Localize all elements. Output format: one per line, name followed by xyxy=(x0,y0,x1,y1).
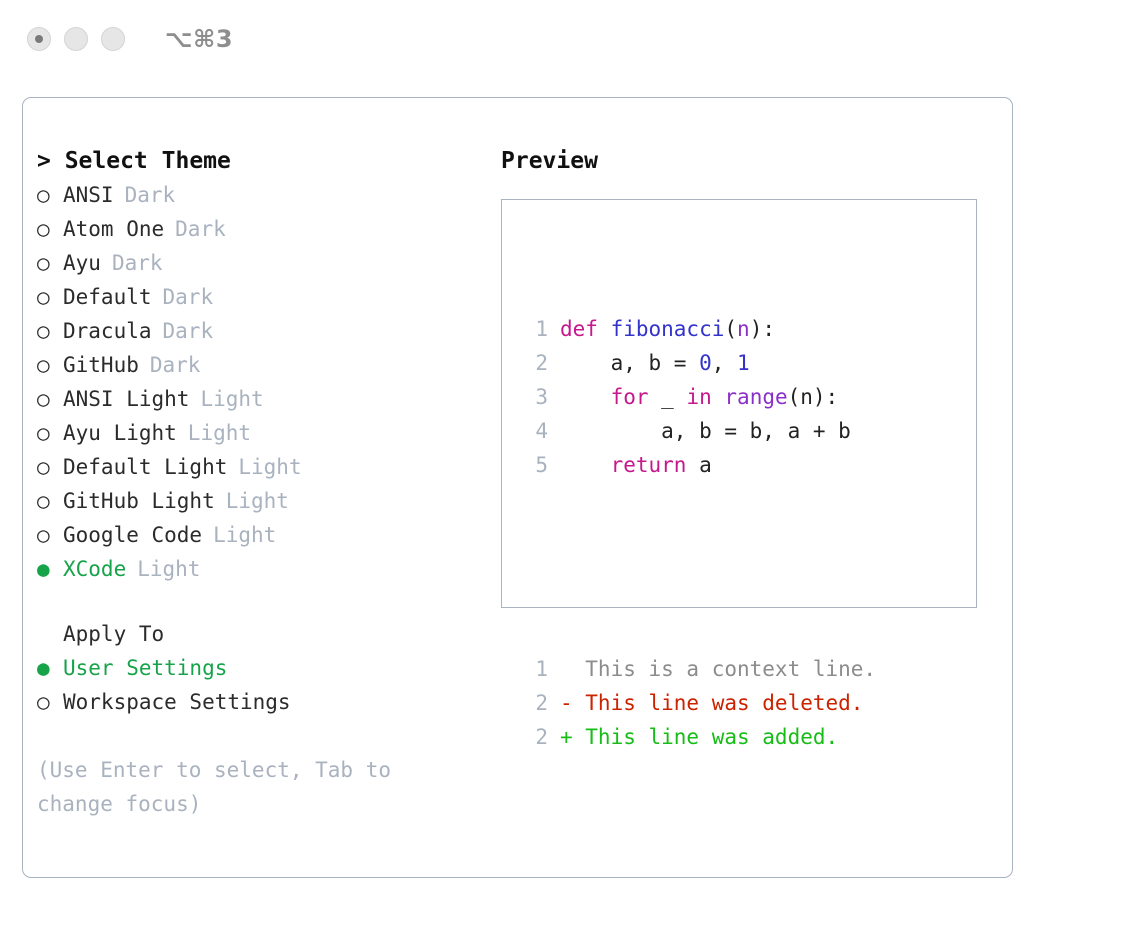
theme-list-item[interactable]: ○ANSIDark xyxy=(37,178,497,212)
code-line-number: 2 xyxy=(522,346,548,380)
theme-name: Default xyxy=(63,280,152,314)
code-token-kw: in xyxy=(686,385,711,409)
keyboard-hint-text: (Use Enter to select, Tab to change focu… xyxy=(37,753,437,821)
code-line-number: 4 xyxy=(522,414,548,448)
theme-variant-tag: Light xyxy=(226,484,289,518)
theme-variant-tag: Light xyxy=(213,518,276,552)
code-line-number: 3 xyxy=(522,380,548,414)
diff-line-del: 2- This line was deleted. xyxy=(522,686,876,720)
radio-unselected-icon: ○ xyxy=(37,280,63,314)
radio-unselected-icon: ○ xyxy=(37,314,63,348)
code-line-number: 1 xyxy=(522,312,548,346)
code-token-pl: a xyxy=(686,453,711,477)
code-line-content: def fibonacci(n): xyxy=(560,312,775,346)
code-token-kw: def xyxy=(560,317,611,341)
code-token-pl: ): xyxy=(750,317,775,341)
theme-name: Ayu Light xyxy=(63,416,177,450)
theme-variant-tag: Dark xyxy=(175,212,226,246)
theme-list-item[interactable]: ○Ayu LightLight xyxy=(37,416,497,450)
theme-variant-tag: Dark xyxy=(163,314,214,348)
apply-to-heading-label: Apply To xyxy=(63,617,164,651)
window-dot-active[interactable] xyxy=(27,27,51,51)
select-theme-heading: > Select Theme xyxy=(37,144,497,178)
theme-variant-tag: Light xyxy=(137,552,200,586)
apply-to-options[interactable]: ●User Settings○Workspace Settings xyxy=(37,651,497,719)
theme-variant-tag: Dark xyxy=(125,178,176,212)
theme-list-item[interactable]: ○Default LightLight xyxy=(37,450,497,484)
code-line-number: 5 xyxy=(522,448,548,482)
window-dot-third[interactable] xyxy=(101,27,125,51)
keyboard-shortcut-label: ⌥⌘3 xyxy=(165,25,233,53)
code-line-content: for _ in range(n): xyxy=(560,380,838,414)
code-token-pl xyxy=(560,385,611,409)
theme-list-item[interactable]: ○Atom OneDark xyxy=(37,212,497,246)
code-token-var: range xyxy=(724,385,787,409)
code-token-pl: (n): xyxy=(788,385,839,409)
preview-code: 1def fibonacci(n):2 a, b = 0, 13 for _ i… xyxy=(522,244,876,822)
theme-name: Google Code xyxy=(63,518,202,552)
code-token-num: 0 xyxy=(699,351,712,375)
radio-unselected-icon: ○ xyxy=(37,450,63,484)
radio-unselected-icon: ○ xyxy=(37,212,63,246)
radio-unselected-icon: ○ xyxy=(37,348,63,382)
radio-unselected-icon: ○ xyxy=(37,382,63,416)
theme-name: Atom One xyxy=(63,212,164,246)
code-token-kw: for xyxy=(611,385,649,409)
radio-unselected-icon: ○ xyxy=(37,484,63,518)
code-token-pl xyxy=(560,453,611,477)
theme-list-item[interactable]: ●XCodeLight xyxy=(37,552,497,586)
apply-to-option-label: User Settings xyxy=(63,651,227,685)
apply-to-heading: Apply To xyxy=(37,617,497,651)
code-token-pl xyxy=(712,385,725,409)
apply-to-heading-marker xyxy=(37,617,63,651)
theme-selector-panel: > Select Theme ○ANSIDark○Atom OneDark○Ay… xyxy=(22,97,1013,878)
radio-selected-icon: ● xyxy=(37,651,63,685)
code-line-content: a, b = b, a + b xyxy=(560,414,851,448)
theme-variant-tag: Dark xyxy=(163,280,214,314)
code-spacer xyxy=(522,550,876,584)
theme-list-item[interactable]: ○Google CodeLight xyxy=(37,518,497,552)
code-token-var: n xyxy=(737,317,750,341)
theme-name: Dracula xyxy=(63,314,152,348)
apply-to-section: Apply To ●User Settings○Workspace Settin… xyxy=(37,617,497,719)
diff-line-content: This is a context line. xyxy=(560,652,876,686)
diff-line-number: 1 xyxy=(522,652,548,686)
window-dot-active-inner xyxy=(35,35,43,43)
window-controls xyxy=(27,27,125,51)
theme-variant-tag: Light xyxy=(238,450,301,484)
theme-list-item[interactable]: ○GitHub LightLight xyxy=(37,484,497,518)
diff-line-number: 2 xyxy=(522,686,548,720)
diff-line-number: 2 xyxy=(522,720,548,754)
code-token-pl: , xyxy=(712,351,737,375)
preview-box: 1def fibonacci(n):2 a, b = 0, 13 for _ i… xyxy=(501,199,977,608)
code-line: 1def fibonacci(n): xyxy=(522,312,876,346)
radio-unselected-icon: ○ xyxy=(37,246,63,280)
diff-line-add: 2+ This line was added. xyxy=(522,720,876,754)
code-line: 4 a, b = b, a + b xyxy=(522,414,876,448)
code-line-content: a, b = 0, 1 xyxy=(560,346,750,380)
diff-line-content: - This line was deleted. xyxy=(560,686,863,720)
theme-variant-tag: Light xyxy=(188,416,251,450)
theme-name: GitHub xyxy=(63,348,139,382)
theme-list-item[interactable]: ○DraculaDark xyxy=(37,314,497,348)
diff-line-content: + This line was added. xyxy=(560,720,838,754)
code-token-pl: _ xyxy=(649,385,687,409)
apply-to-option[interactable]: ○Workspace Settings xyxy=(37,685,497,719)
code-line-content: return a xyxy=(560,448,712,482)
theme-list-item[interactable]: ○AyuDark xyxy=(37,246,497,280)
code-token-kw: return xyxy=(611,453,687,477)
diff-sample: 1 This is a context line.2- This line wa… xyxy=(522,652,876,754)
apply-to-option-label: Workspace Settings xyxy=(63,685,291,719)
radio-unselected-icon: ○ xyxy=(37,685,63,719)
theme-list-item[interactable]: ○GitHubDark xyxy=(37,348,497,382)
theme-name: Default Light xyxy=(63,450,227,484)
theme-list-item[interactable]: ○DefaultDark xyxy=(37,280,497,314)
code-line: 2 a, b = 0, 1 xyxy=(522,346,876,380)
code-token-num: 1 xyxy=(737,351,750,375)
theme-name: ANSI Light xyxy=(63,382,189,416)
theme-name: GitHub Light xyxy=(63,484,215,518)
theme-name: XCode xyxy=(63,552,126,586)
code-sample: 1def fibonacci(n):2 a, b = 0, 13 for _ i… xyxy=(522,312,876,482)
code-token-pl: a, b = xyxy=(560,351,699,375)
theme-list[interactable]: ○ANSIDark○Atom OneDark○AyuDark○DefaultDa… xyxy=(37,178,497,586)
panel-columns: > Select Theme ○ANSIDark○Atom OneDark○Ay… xyxy=(23,98,1012,877)
radio-unselected-icon: ○ xyxy=(37,416,63,450)
preview-column: Preview 1def fibonacci(n):2 a, b = 0, 13… xyxy=(501,144,1001,608)
code-token-pl: ( xyxy=(724,317,737,341)
radio-unselected-icon: ○ xyxy=(37,178,63,212)
code-line: 3 for _ in range(n): xyxy=(522,380,876,414)
code-token-pl: a, b = b, a + b xyxy=(560,419,851,443)
code-token-fn: fibonacci xyxy=(611,317,725,341)
window-titlebar: ⌥⌘3 xyxy=(0,0,1140,78)
theme-list-item[interactable]: ○ANSI LightLight xyxy=(37,382,497,416)
theme-name: ANSI xyxy=(63,178,114,212)
preview-heading: Preview xyxy=(501,144,1001,178)
theme-variant-tag: Dark xyxy=(150,348,201,382)
window-dot-second[interactable] xyxy=(64,27,88,51)
theme-variant-tag: Dark xyxy=(112,246,163,280)
diff-line-ctx: 1 This is a context line. xyxy=(522,652,876,686)
theme-variant-tag: Light xyxy=(200,382,263,416)
apply-to-option[interactable]: ●User Settings xyxy=(37,651,497,685)
radio-unselected-icon: ○ xyxy=(37,518,63,552)
code-line: 5 return a xyxy=(522,448,876,482)
theme-name: Ayu xyxy=(63,246,101,280)
theme-column: > Select Theme ○ANSIDark○Atom OneDark○Ay… xyxy=(37,144,497,821)
radio-selected-icon: ● xyxy=(37,552,63,586)
